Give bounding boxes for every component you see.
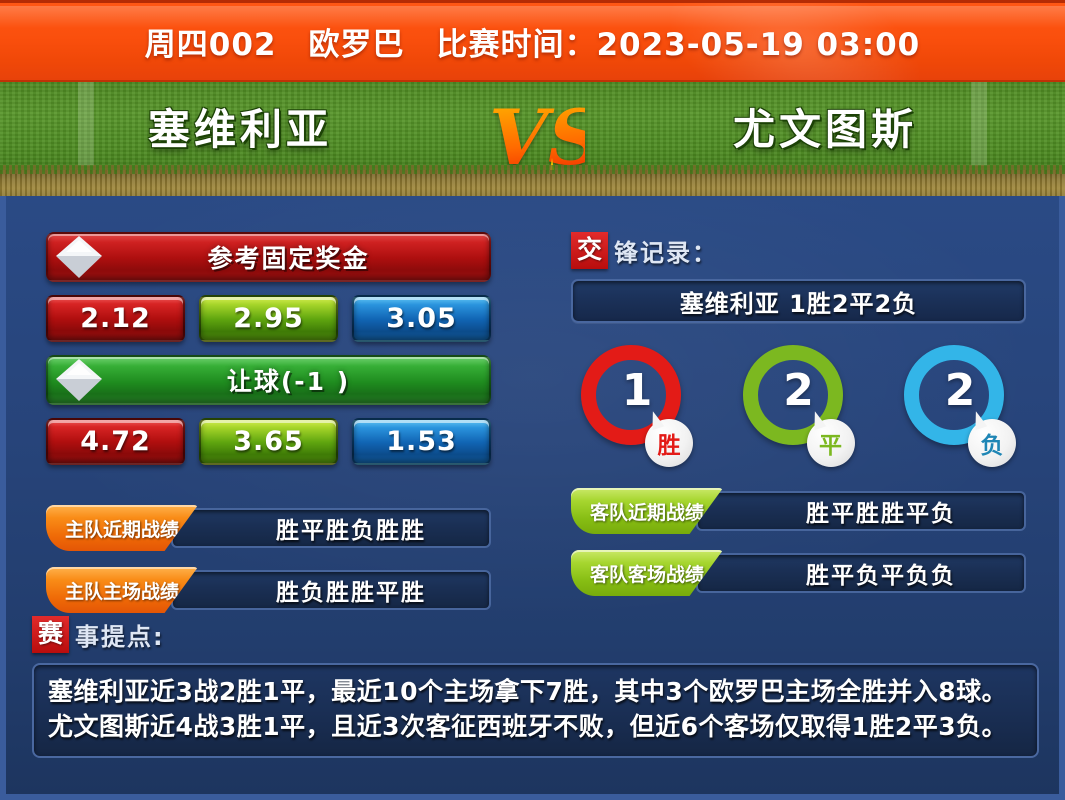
fixed-odds-title-bar: 参考固定奖金 bbox=[46, 232, 491, 282]
ring-draw-badge: 平 bbox=[807, 419, 855, 467]
ring-lose-value: 2 bbox=[925, 356, 995, 426]
away-team-name: 尤文图斯 bbox=[625, 96, 1025, 157]
tips-heading-block: 赛 bbox=[32, 616, 69, 653]
pitch-dirt-strip bbox=[0, 170, 1065, 196]
fixed-odds-title: 参考固定奖金 bbox=[167, 239, 369, 275]
h2h-column: 交 锋记录： 塞维利亚 1胜2平2负 1 胜 2 平 bbox=[571, 232, 1026, 598]
match-header-text: 周四002 欧罗巴 比赛时间：2023-05-19 03:00 bbox=[0, 3, 1065, 80]
home-home-record-row: 主队主场战绩 胜负胜胜平胜 bbox=[46, 567, 491, 615]
h2h-ring-win: 1 胜 bbox=[579, 345, 695, 467]
h2h-ring-lose: 2 负 bbox=[902, 345, 1018, 467]
ring-draw-value: 2 bbox=[764, 356, 834, 426]
away-away-record-value: 胜平负平负负 bbox=[696, 553, 1026, 593]
tips-heading-text: 事提点: bbox=[75, 617, 165, 652]
handicap-title-bar: 让球(-1 ) bbox=[46, 355, 491, 405]
match-header-banner: 周四002 欧罗巴 比赛时间：2023-05-19 03:00 bbox=[0, 0, 1065, 82]
fixed-odd-home[interactable]: 2.12 bbox=[46, 295, 185, 342]
home-home-record-value: 胜负胜胜平胜 bbox=[171, 570, 491, 610]
odds-column: 参考固定奖金 2.12 2.95 3.05 让球(-1 ) 4.72 3.65 … bbox=[46, 232, 491, 615]
match-tips-section: 赛 事提点: 塞维利亚近3战2胜1平，最近10个主场拿下7胜，其中3个欧罗巴主场… bbox=[32, 616, 1039, 758]
handicap-odd-away[interactable]: 1.53 bbox=[352, 418, 491, 465]
fixed-odds-row: 2.12 2.95 3.05 bbox=[46, 295, 491, 342]
away-records-group: 客队近期战绩 胜平胜胜平负 客队客场战绩 胜平负平负负 bbox=[571, 488, 1026, 598]
h2h-heading-text: 锋记录： bbox=[614, 233, 718, 268]
handicap-title: 让球(-1 ) bbox=[187, 362, 350, 398]
match-preview-screen: 周四002 欧罗巴 比赛时间：2023-05-19 03:00 塞维利亚 VS … bbox=[0, 0, 1065, 800]
h2h-rings: 1 胜 2 平 2 负 bbox=[571, 345, 1026, 467]
home-recent-record-value: 胜平胜负胜胜 bbox=[171, 508, 491, 548]
h2h-ring-draw: 2 平 bbox=[741, 345, 857, 467]
tips-box: 塞维利亚近3战2胜1平，最近10个主场拿下7胜，其中3个欧罗巴主场全胜并入8球。… bbox=[32, 663, 1039, 758]
home-recent-record-row: 主队近期战绩 胜平胜负胜胜 bbox=[46, 505, 491, 553]
h2h-heading-block: 交 bbox=[571, 232, 608, 269]
teams-pitch-band: 塞维利亚 VS 尤文图斯 bbox=[0, 82, 1065, 196]
away-away-record-row: 客队客场战绩 胜平负平负负 bbox=[571, 550, 1026, 598]
home-records-group: 主队近期战绩 胜平胜负胜胜 主队主场战绩 胜负胜胜平胜 bbox=[46, 505, 491, 615]
tips-line-home: 塞维利亚近3战2胜1平，最近10个主场拿下7胜，其中3个欧罗巴主场全胜并入8球。 bbox=[48, 675, 1023, 710]
home-team-name: 塞维利亚 bbox=[40, 96, 440, 157]
handicap-odd-home[interactable]: 4.72 bbox=[46, 418, 185, 465]
tips-line-away: 尤文图斯近4战3胜1平，且近3次客征西班牙不败，但近6个客场仅取得1胜2平3负。 bbox=[48, 710, 1023, 745]
content-area: 参考固定奖金 2.12 2.95 3.05 让球(-1 ) 4.72 3.65 … bbox=[0, 196, 1065, 800]
tips-heading: 赛 事提点: bbox=[32, 616, 1039, 653]
handicap-odds-row: 4.72 3.65 1.53 bbox=[46, 418, 491, 465]
diamond-gem-icon bbox=[56, 357, 102, 403]
h2h-heading: 交 锋记录： bbox=[571, 232, 1026, 269]
diamond-gem-icon bbox=[56, 234, 102, 280]
away-recent-record-row: 客队近期战绩 胜平胜胜平负 bbox=[571, 488, 1026, 536]
ring-win-value: 1 bbox=[602, 356, 672, 426]
ring-win-badge: 胜 bbox=[645, 419, 693, 467]
ring-lose-badge: 负 bbox=[968, 419, 1016, 467]
fixed-odd-draw[interactable]: 2.95 bbox=[199, 295, 338, 342]
fixed-odd-away[interactable]: 3.05 bbox=[352, 295, 491, 342]
h2h-summary-bar: 塞维利亚 1胜2平2负 bbox=[571, 279, 1026, 323]
away-recent-record-value: 胜平胜胜平负 bbox=[696, 491, 1026, 531]
handicap-odd-draw[interactable]: 3.65 bbox=[199, 418, 338, 465]
